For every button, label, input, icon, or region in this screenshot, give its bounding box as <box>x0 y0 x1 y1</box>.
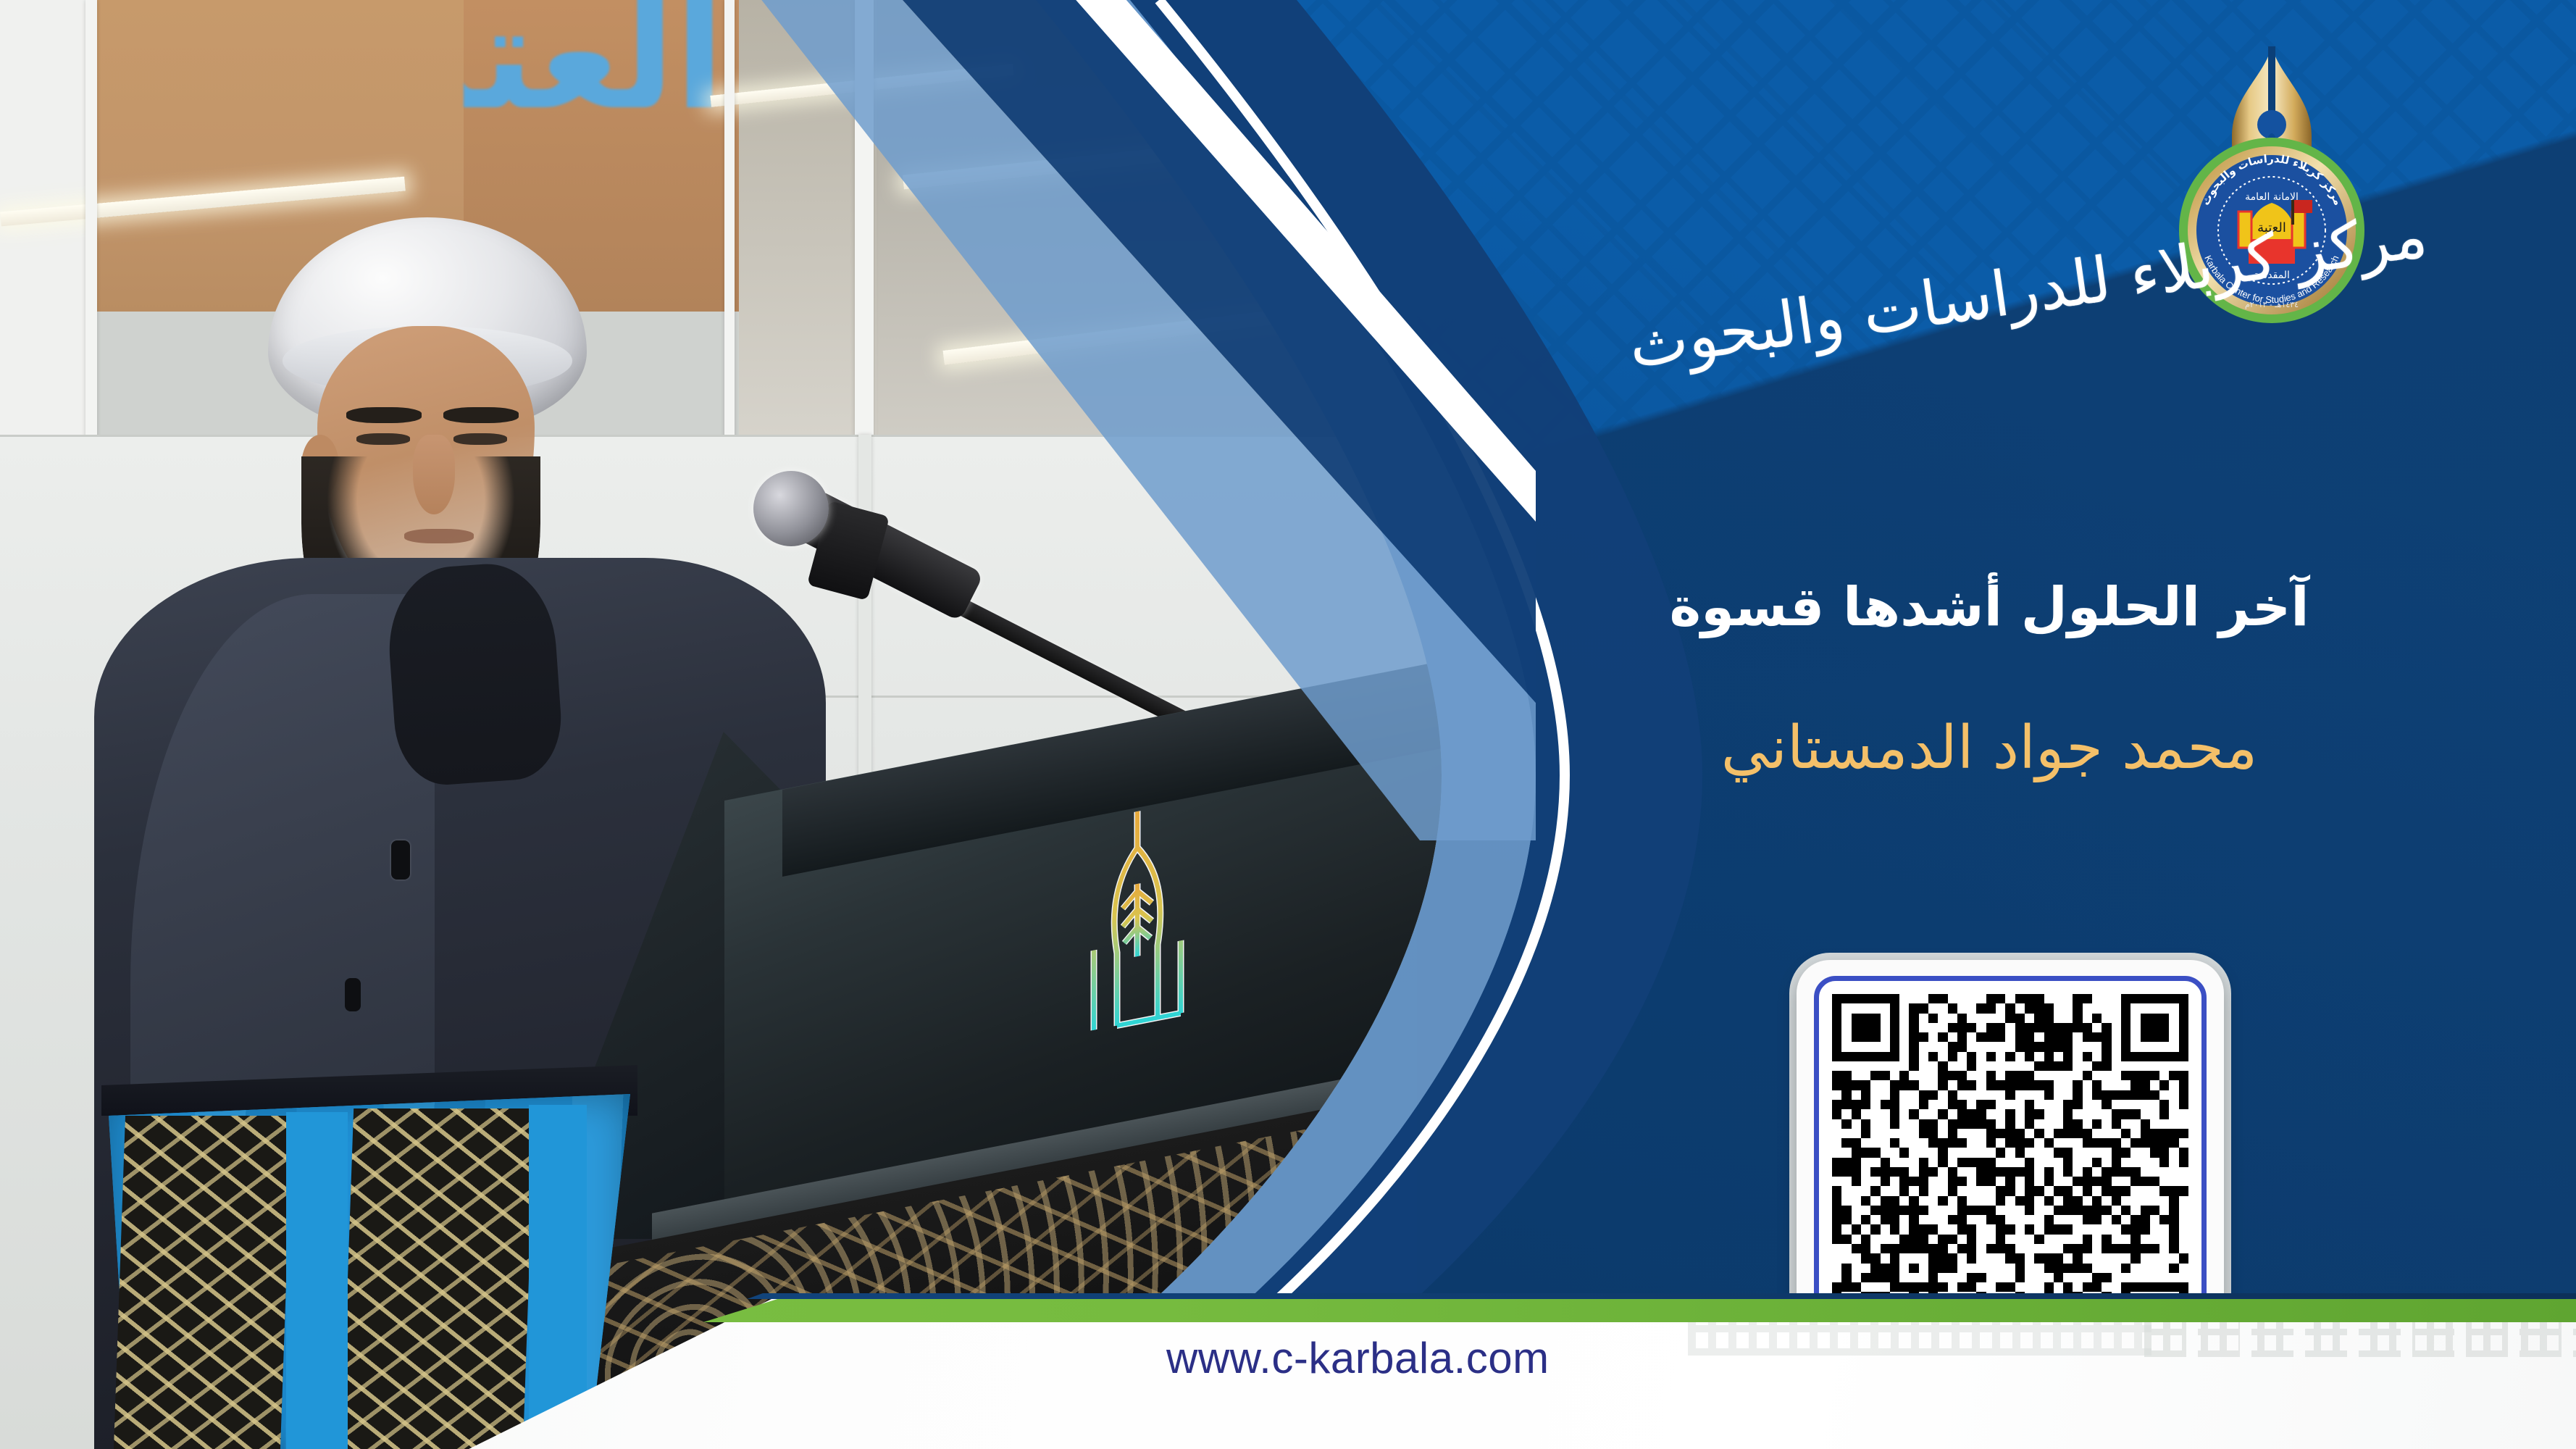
eyebrow <box>443 407 519 423</box>
window-mullion <box>855 0 874 464</box>
robe-collar <box>384 559 565 788</box>
poster-canvas: العتبة <box>0 0 2576 1449</box>
lapel-microphone <box>391 840 410 880</box>
lapel-microphone <box>345 978 361 1011</box>
footer-bar: www.c-karbala.com <box>0 1293 2576 1449</box>
glass-panel <box>0 0 87 464</box>
eye <box>356 433 410 445</box>
svg-text:الامانة العامة: الامانة العامة <box>2245 191 2299 203</box>
wall-calligraphy-icon: العتبة <box>464 0 724 130</box>
website-url[interactable]: www.c-karbala.com <box>1166 1333 1550 1383</box>
podium-emblem-icon <box>1065 790 1210 1051</box>
eye <box>453 433 507 445</box>
eyebrow <box>346 407 422 423</box>
organization-logo: العتبة مركز كربلاء للدراسات والبحوث Karb… <box>2141 43 2402 319</box>
footer-navy-stripe <box>0 1293 2576 1299</box>
poster-title: آخر الحلول أشدها قسوة <box>1584 576 2395 638</box>
window-mullion <box>85 0 97 464</box>
speaker-name: محمد جواد الدمستاني <box>1584 714 2395 782</box>
window-mullion <box>858 435 871 811</box>
